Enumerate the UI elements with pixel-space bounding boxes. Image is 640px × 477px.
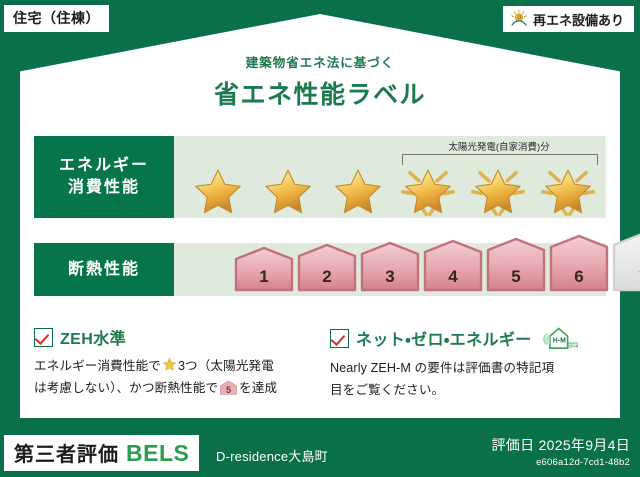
star-base: [184, 162, 252, 216]
energy-rating-body: 太陽光発電(自家消費)分: [174, 136, 606, 218]
bels-jp-text: 第三者評価: [14, 438, 119, 467]
energy-performance-label-block: エネルギー 消費性能: [34, 136, 174, 218]
page-title: 省エネ性能ラベル: [0, 75, 640, 111]
star-solar: [534, 162, 602, 216]
svg-text:ZEH-M: ZEH-M: [568, 345, 578, 349]
zeh-text-part1: エネルギー消費性能で: [34, 359, 161, 373]
zeh-text-part3: は考慮しない）、かつ断熱性能で: [34, 381, 218, 395]
energy-performance-row: エネルギー 消費性能 太陽光発電(自家消費)分: [34, 136, 606, 218]
net-zero-energy-text: Nearly ZEH-M の要件は評価書の特記項 目をご覧ください。: [330, 358, 615, 401]
insulation-level-1: 1: [234, 246, 294, 292]
zeh-standard-head: ZEH水準: [34, 325, 319, 349]
net-zero-energy-checkbox: [330, 329, 349, 348]
zeh-standard-checkbox: [34, 328, 53, 347]
zeh-standard-block: ZEH水準 エネルギー消費性能で3つ（太陽光発電 は考慮しない）、かつ断熱性能で…: [34, 325, 319, 402]
insulation-level-7: 7: [612, 232, 640, 292]
net-zero-energy-title: ネット・ゼロ・エネルギー: [356, 326, 532, 350]
footer-evaluation-info: 評価日 2025年9月4日 e606a12d-7cd1-48b2: [491, 435, 630, 468]
star-solar: [394, 162, 462, 216]
insulation-level-value: 1: [259, 267, 268, 287]
sun-solar-icon: [509, 9, 529, 29]
insulation-level-6: 6: [549, 234, 609, 292]
insulation-level-4: 4: [423, 239, 483, 292]
inline-star-icon: [162, 357, 177, 372]
nze-text-part2: 目をご覧ください。: [330, 383, 444, 397]
net-zero-energy-head: ネット・ゼロ・エネルギー H-M Nearly ZEH-M: [330, 325, 615, 351]
building-name: D-residence大島町: [216, 446, 328, 465]
insulation-scale: 1234567: [234, 232, 640, 292]
zeh-standard-title: ZEH水準: [60, 325, 126, 349]
insulation-performance-row: 断熱性能 1234567: [34, 243, 606, 296]
insulation-level-value: 5: [511, 267, 520, 287]
building-type-text: 住宅（住棟）: [13, 8, 100, 28]
insulation-level-2: 2: [297, 243, 357, 292]
zeh-text-part2: 3つ（太陽光発電: [178, 359, 274, 373]
zeh-logo-text: H-M: [552, 337, 565, 344]
energy-label-line1: エネルギー: [59, 155, 149, 177]
star-base: [324, 162, 392, 216]
solar-bracket-label: 太陽光発電(自家消費)分: [392, 139, 606, 153]
energy-performance-label: 住宅（住棟） 再エネ設備あり 建築物省エネ法に基づく 省エネ性能ラベル エネルギ…: [0, 0, 640, 477]
evaluation-id: e606a12d-7cd1-48b2: [491, 457, 630, 468]
insulation-level-value: 6: [574, 267, 583, 287]
star-base: [254, 162, 322, 216]
insulation-level-3: 3: [360, 241, 420, 292]
insulation-level-5: 5: [486, 237, 546, 292]
title-block: 建築物省エネ法に基づく 省エネ性能ラベル: [0, 52, 640, 111]
insulation-level-value: 3: [385, 267, 394, 287]
star-solar: [464, 162, 532, 216]
energy-label-line2: 消費性能: [68, 177, 140, 199]
bels-en-text: BELS: [126, 440, 189, 467]
bels-badge: 第三者評価 BELS: [4, 435, 199, 471]
renewable-energy-text: 再エネ設備あり: [533, 10, 624, 29]
renewable-energy-tag: 再エネ設備あり: [503, 6, 634, 32]
insulation-level-value: 2: [322, 267, 331, 287]
zeh-text-part4: を達成: [239, 381, 277, 395]
zeh-m-logo-icon: H-M Nearly ZEH-M: [541, 325, 579, 351]
insulation-performance-label-block: 断熱性能: [34, 243, 174, 296]
evaluation-date: 評価日 2025年9月4日: [491, 435, 630, 455]
insulation-rating-body: 1234567: [174, 243, 606, 296]
insulation-level-value: 4: [448, 267, 457, 287]
label-subtitle: 建築物省エネ法に基づく: [0, 52, 640, 71]
insulation-label: 断熱性能: [68, 259, 140, 281]
nze-text-part1: Nearly ZEH-M の要件は評価書の特記項: [330, 361, 554, 375]
net-zero-energy-block: ネット・ゼロ・エネルギー H-M Nearly ZEH-M Nearly ZEH…: [330, 325, 615, 401]
zeh-standard-text: エネルギー消費性能で3つ（太陽光発電 は考慮しない）、かつ断熱性能で5を達成: [34, 356, 319, 402]
inline-house-badge: 5: [220, 380, 237, 403]
inline-house-value: 5: [220, 383, 237, 398]
building-type-tag: 住宅（住棟）: [4, 5, 109, 32]
star-rating: [184, 162, 602, 216]
